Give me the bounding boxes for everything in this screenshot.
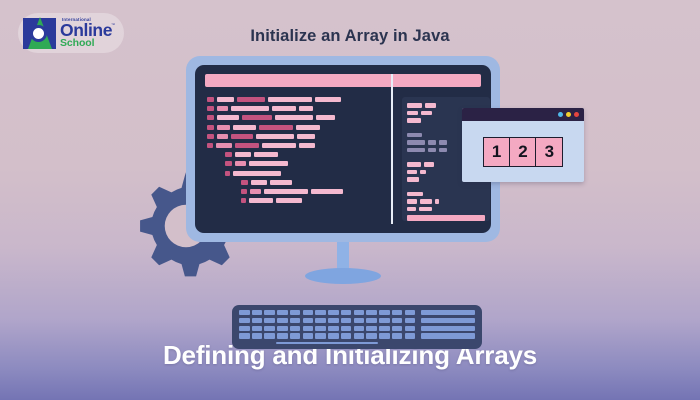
code-token xyxy=(217,115,239,120)
code-token xyxy=(217,125,230,130)
code-token xyxy=(299,143,315,148)
page-title: Initialize an Array in Java xyxy=(0,27,700,46)
keyboard-key[interactable] xyxy=(315,326,326,331)
code-line xyxy=(207,106,385,111)
code-token xyxy=(407,192,423,197)
numpad-key-row[interactable] xyxy=(421,333,475,338)
code-line xyxy=(207,143,385,148)
code-token xyxy=(407,148,425,153)
keyboard-key[interactable] xyxy=(290,333,301,338)
code-token xyxy=(439,148,447,153)
keyboard-row xyxy=(239,310,415,315)
keyboard-key[interactable] xyxy=(328,310,339,315)
keyboard-key[interactable] xyxy=(303,310,314,315)
code-token xyxy=(419,207,432,212)
keyboard-key[interactable] xyxy=(366,310,377,315)
code-token xyxy=(270,180,292,185)
editor-split-divider xyxy=(391,74,393,224)
keyboard-key[interactable] xyxy=(366,326,377,331)
code-token xyxy=(424,162,434,167)
code-token xyxy=(296,125,320,130)
code-token xyxy=(241,180,248,185)
code-token xyxy=(421,111,432,116)
code-line xyxy=(407,207,485,212)
keyboard-key[interactable] xyxy=(341,310,352,315)
keyboard-key[interactable] xyxy=(366,333,377,338)
code-footer-bar xyxy=(407,215,485,221)
keyboard-key[interactable] xyxy=(405,333,416,338)
keyboard-numpad xyxy=(421,310,475,344)
code-line xyxy=(207,198,385,203)
keyboard-key[interactable] xyxy=(264,333,275,338)
code-token xyxy=(225,171,230,176)
keyboard-key[interactable] xyxy=(264,318,275,323)
keyboard-key[interactable] xyxy=(354,318,365,323)
code-token xyxy=(297,134,315,139)
code-token xyxy=(268,97,312,102)
keyboard-key[interactable] xyxy=(290,310,301,315)
keyboard-key[interactable] xyxy=(290,318,301,323)
code-token xyxy=(407,199,417,204)
keyboard-key[interactable] xyxy=(392,318,403,323)
monitor-stand-base xyxy=(305,268,381,284)
code-group-gap xyxy=(407,185,485,192)
code-line xyxy=(207,125,385,130)
keyboard-key[interactable] xyxy=(277,333,288,338)
array-preview-window[interactable]: 123 xyxy=(462,108,584,182)
code-token xyxy=(420,170,426,175)
keyboard-key[interactable] xyxy=(328,326,339,331)
array-cell[interactable]: 2 xyxy=(509,137,537,167)
keyboard-key[interactable] xyxy=(328,333,339,338)
code-token xyxy=(231,106,269,111)
keyboard-main-keys xyxy=(239,310,415,344)
code-token xyxy=(272,106,296,111)
code-token xyxy=(235,152,251,157)
keyboard-key[interactable] xyxy=(341,326,352,331)
monitor-screen xyxy=(195,65,491,233)
code-token xyxy=(251,180,267,185)
numpad-key-row[interactable] xyxy=(421,318,475,323)
array-cells: 123 xyxy=(462,121,584,182)
keyboard-row xyxy=(239,326,415,331)
code-token xyxy=(217,106,228,111)
keyboard-key[interactable] xyxy=(252,310,263,315)
array-cell[interactable]: 1 xyxy=(483,137,511,167)
keyboard-key[interactable] xyxy=(379,326,390,331)
code-line xyxy=(407,192,485,197)
code-token xyxy=(207,143,213,148)
keyboard-key[interactable] xyxy=(252,318,263,323)
code-token xyxy=(425,103,436,108)
window-titlebar xyxy=(462,108,584,121)
keyboard-key[interactable] xyxy=(379,310,390,315)
code-line xyxy=(207,189,385,194)
code-line xyxy=(407,103,485,108)
numpad-key-row[interactable] xyxy=(421,310,475,315)
keyboard-key[interactable] xyxy=(252,333,263,338)
keyboard-key[interactable] xyxy=(392,326,403,331)
keyboard[interactable] xyxy=(232,305,482,349)
keyboard-key[interactable] xyxy=(392,333,403,338)
code-line xyxy=(207,152,385,157)
keyboard-key[interactable] xyxy=(341,333,352,338)
keyboard-key[interactable] xyxy=(290,326,301,331)
code-token xyxy=(254,152,278,157)
code-token xyxy=(242,115,272,120)
code-token xyxy=(420,199,432,204)
code-token xyxy=(237,97,265,102)
code-line xyxy=(207,115,385,120)
keyboard-key[interactable] xyxy=(341,318,352,323)
code-token xyxy=(407,170,417,175)
code-line xyxy=(207,171,385,176)
numpad-key-row[interactable] xyxy=(421,326,475,331)
code-token xyxy=(250,189,261,194)
keyboard-key[interactable] xyxy=(239,318,250,323)
code-line xyxy=(207,134,385,139)
code-token xyxy=(225,152,232,157)
code-line xyxy=(407,199,485,204)
code-token xyxy=(225,161,232,166)
keyboard-key[interactable] xyxy=(277,310,288,315)
code-token xyxy=(207,97,214,102)
code-token xyxy=(407,133,422,138)
code-token xyxy=(231,134,253,139)
code-token xyxy=(241,198,246,203)
code-token xyxy=(207,125,214,130)
code-line xyxy=(207,180,385,185)
keyboard-key[interactable] xyxy=(252,326,263,331)
keyboard-key[interactable] xyxy=(315,333,326,338)
keyboard-key[interactable] xyxy=(277,318,288,323)
code-token xyxy=(299,106,313,111)
code-line xyxy=(207,161,385,166)
code-token xyxy=(216,143,232,148)
keyboard-key[interactable] xyxy=(328,318,339,323)
keyboard-key[interactable] xyxy=(239,326,250,331)
code-token xyxy=(207,134,214,139)
code-token xyxy=(407,140,425,145)
code-token xyxy=(207,115,214,120)
code-token xyxy=(256,134,294,139)
code-token xyxy=(233,125,256,130)
editor-titlebar xyxy=(205,74,481,87)
keyboard-key[interactable] xyxy=(405,326,416,331)
keyboard-key[interactable] xyxy=(315,318,326,323)
keyboard-row xyxy=(239,318,415,323)
keyboard-key[interactable] xyxy=(405,310,416,315)
keyboard-key[interactable] xyxy=(354,310,365,315)
keyboard-key[interactable] xyxy=(315,310,326,315)
keyboard-key[interactable] xyxy=(239,310,250,315)
code-token xyxy=(264,189,308,194)
code-token xyxy=(235,161,246,166)
code-token xyxy=(217,97,234,102)
keyboard-key[interactable] xyxy=(303,318,314,323)
code-token xyxy=(311,189,343,194)
code-token xyxy=(439,140,447,145)
code-token xyxy=(233,171,281,176)
keyboard-key[interactable] xyxy=(264,310,275,315)
computer-monitor xyxy=(186,56,500,242)
code-token xyxy=(249,161,288,166)
code-token xyxy=(407,118,421,123)
code-token xyxy=(407,162,421,167)
code-token xyxy=(428,140,436,145)
code-token xyxy=(435,199,439,204)
code-token xyxy=(407,177,419,182)
code-token xyxy=(316,115,335,120)
keyboard-key[interactable] xyxy=(277,326,288,331)
code-token xyxy=(407,207,416,212)
code-token xyxy=(407,103,422,108)
keyboard-key[interactable] xyxy=(239,333,250,338)
code-token xyxy=(259,125,293,130)
keyboard-key[interactable] xyxy=(264,326,275,331)
maximize-dot[interactable] xyxy=(566,112,571,117)
keyboard-row xyxy=(239,333,415,338)
code-token xyxy=(235,143,259,148)
code-token xyxy=(207,106,214,111)
keyboard-key[interactable] xyxy=(366,318,377,323)
keyboard-key[interactable] xyxy=(354,333,365,338)
minimize-dot[interactable] xyxy=(558,112,563,117)
keyboard-spacebar[interactable] xyxy=(276,342,378,344)
code-token xyxy=(262,143,296,148)
code-token xyxy=(275,115,313,120)
code-token xyxy=(315,97,341,102)
keyboard-key[interactable] xyxy=(303,333,314,338)
keyboard-key[interactable] xyxy=(392,310,403,315)
keyboard-key[interactable] xyxy=(354,326,365,331)
code-line xyxy=(207,97,385,102)
code-token xyxy=(276,198,302,203)
code-token xyxy=(217,134,228,139)
close-dot[interactable] xyxy=(574,112,579,117)
keyboard-key[interactable] xyxy=(303,326,314,331)
code-editor-left-pane xyxy=(207,97,385,221)
keyboard-key[interactable] xyxy=(379,318,390,323)
code-token xyxy=(249,198,273,203)
code-token xyxy=(241,189,247,194)
keyboard-key[interactable] xyxy=(405,318,416,323)
code-token xyxy=(407,111,418,116)
array-cell[interactable]: 3 xyxy=(535,137,563,167)
keyboard-key[interactable] xyxy=(379,333,390,338)
code-token xyxy=(428,148,436,153)
slide-canvas: International Online School ™ Initialize… xyxy=(0,0,700,400)
